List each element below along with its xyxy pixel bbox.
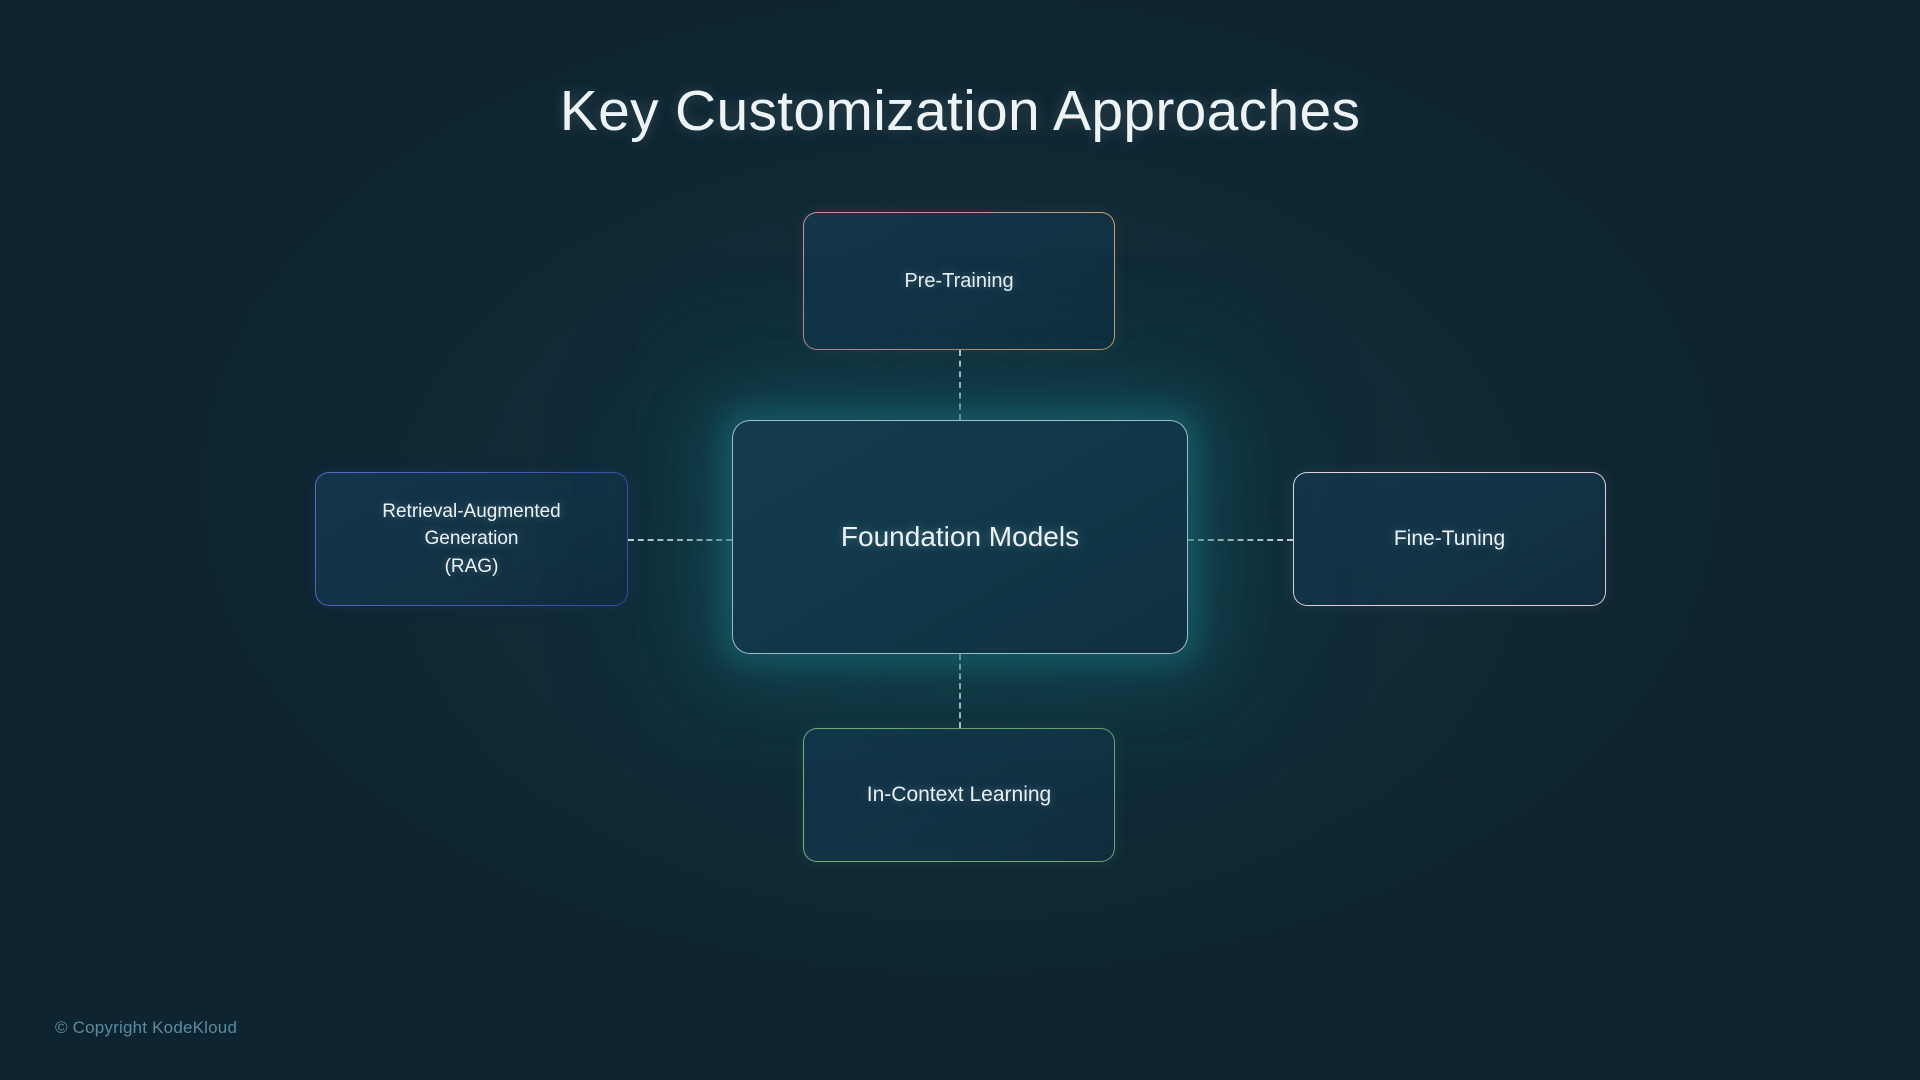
node-retrieval-augmented-generation[interactable]: Retrieval-Augmented Generation (RAG) bbox=[315, 472, 628, 606]
node-fine-tuning-label: Fine-Tuning bbox=[1376, 524, 1523, 554]
node-rag-label-line-1: Retrieval-Augmented bbox=[382, 501, 560, 522]
node-pre-training[interactable]: Pre-Training bbox=[803, 212, 1115, 350]
copyright-notice: © Copyright KodeKloud bbox=[55, 1018, 237, 1038]
connector-foundation-to-fine-tuning bbox=[1188, 539, 1293, 541]
node-rag-label: Retrieval-Augmented Generation (RAG) bbox=[364, 498, 578, 581]
node-pre-training-label: Pre-Training bbox=[886, 267, 1031, 296]
node-in-context-learning[interactable]: In-Context Learning bbox=[803, 728, 1115, 862]
node-foundation-models-label: Foundation Models bbox=[823, 517, 1097, 558]
node-in-context-learning-label: In-Context Learning bbox=[849, 780, 1069, 810]
node-foundation-models[interactable]: Foundation Models bbox=[732, 420, 1188, 654]
page-title: Key Customization Approaches bbox=[0, 78, 1920, 144]
node-rag-label-line-3: (RAG) bbox=[445, 556, 499, 577]
diagram-canvas: Key Customization Approaches Pre-Trainin… bbox=[0, 0, 1920, 1080]
node-rag-label-line-2: Generation bbox=[424, 528, 518, 549]
node-fine-tuning[interactable]: Fine-Tuning bbox=[1293, 472, 1606, 606]
connector-foundation-to-pre-training bbox=[959, 350, 961, 420]
connector-foundation-to-rag bbox=[628, 539, 732, 541]
connector-foundation-to-in-context-learning bbox=[959, 654, 961, 728]
